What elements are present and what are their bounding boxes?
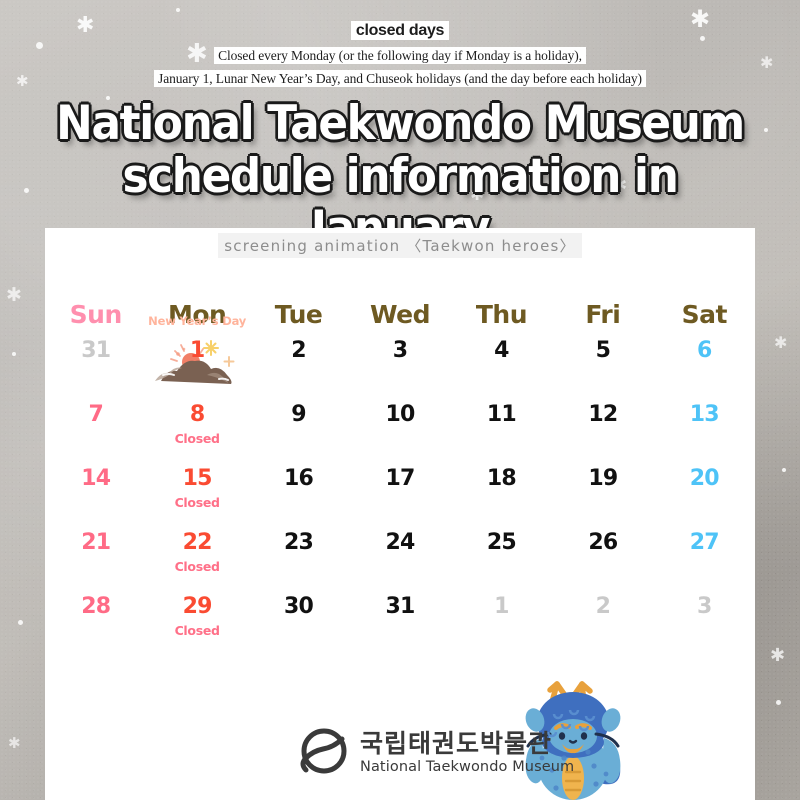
calendar-day-number: 21: [81, 532, 110, 554]
calendar-day-number: 10: [385, 404, 414, 426]
calendar-day-cell[interactable]: 30: [248, 592, 349, 656]
closed-days-note-line-2: January 1, Lunar New Year’s Day, and Chu…: [0, 70, 800, 88]
calendar-week-row: 1415Closed1617181920: [45, 464, 755, 528]
calendar-day-number: 28: [81, 596, 110, 618]
page-title-line-1: National Taekwondo Museum: [28, 98, 772, 151]
calendar-day-number: 12: [588, 404, 617, 426]
calendar-day-number: 31: [81, 340, 110, 362]
calendar-day-cell[interactable]: 23: [248, 528, 349, 592]
calendar-day-number: 4: [494, 340, 509, 362]
calendar-day-number: 8: [190, 404, 205, 426]
calendar-day-cell[interactable]: 4: [451, 336, 552, 400]
calendar-week-row: 2122Closed2324252627: [45, 528, 755, 592]
calendar-day-number: 2: [596, 596, 611, 618]
calendar-day-cell[interactable]: 26: [552, 528, 653, 592]
museum-logo: 국립태권도박물관 National Taekwondo Museum: [296, 726, 574, 780]
calendar-day-cell[interactable]: 11: [451, 400, 552, 464]
bg-dot: [176, 8, 180, 12]
closed-label: Closed: [175, 495, 220, 510]
calendar-grid: SunMonTueWedThuFriSat 31New Year’s Day1C…: [45, 292, 755, 656]
calendar-day-cell[interactable]: 22Closed: [146, 528, 247, 592]
calendar-day-cell[interactable]: 17: [349, 464, 450, 528]
calendar-day-number: 13: [690, 404, 719, 426]
calendar-day-number: 2: [291, 340, 306, 362]
closed-days-note-line-2-text: January 1, Lunar New Year’s Day, and Chu…: [154, 70, 646, 87]
calendar-day-number: 20: [690, 468, 719, 490]
sparkle-icon: ✱: [770, 646, 785, 664]
calendar-day-cell[interactable]: 10: [349, 400, 450, 464]
calendar-day-number: 14: [81, 468, 110, 490]
new-year-label: New Year’s Day: [148, 314, 246, 328]
screening-note-label: screening animation 〈Taekwon heroes〉: [218, 233, 582, 258]
calendar-day-number: 23: [284, 532, 313, 554]
screening-note: screening animation 〈Taekwon heroes〉: [0, 233, 800, 258]
calendar-day-cell[interactable]: 8Closed: [146, 400, 247, 464]
bg-dot: [18, 620, 23, 625]
calendar-day-cell[interactable]: 27: [654, 528, 755, 592]
bg-dot: [776, 700, 781, 705]
calendar-day-cell[interactable]: 28: [45, 592, 146, 656]
calendar-week-row: 2829Closed3031123: [45, 592, 755, 656]
calendar-day-cell[interactable]: 18: [451, 464, 552, 528]
bg-dot: [782, 468, 786, 472]
closed-days-badge-label: closed days: [351, 21, 449, 40]
calendar-day-number: 1: [494, 596, 509, 618]
calendar-day-cell[interactable]: 15Closed: [146, 464, 247, 528]
museum-name-korean: 국립태권도박물관: [360, 731, 574, 756]
calendar-day-cell[interactable]: 6: [654, 336, 755, 400]
calendar-day-cell[interactable]: 20: [654, 464, 755, 528]
sparkle-icon: ✱: [774, 336, 787, 352]
calendar-day-cell[interactable]: 5: [552, 336, 653, 400]
closed-label: Closed: [175, 559, 220, 574]
calendar-day-cell[interactable]: 31: [349, 592, 450, 656]
closed-label: Closed: [175, 367, 220, 382]
calendar-day-number: 27: [690, 532, 719, 554]
museum-name-english: National Taekwondo Museum: [360, 760, 574, 775]
calendar-day-number: 15: [183, 468, 212, 490]
calendar-day-cell[interactable]: 21: [45, 528, 146, 592]
calendar-day-number: 25: [487, 532, 516, 554]
calendar-day-cell[interactable]: 3: [349, 336, 450, 400]
weekday-header-thu: Thu: [451, 292, 552, 336]
weekday-header-wed: Wed: [349, 292, 450, 336]
calendar-day-cell[interactable]: New Year’s Day1Closed: [146, 336, 247, 400]
calendar-day-cell[interactable]: 12: [552, 400, 653, 464]
calendar-day-cell[interactable]: 19: [552, 464, 653, 528]
closed-label: Closed: [175, 623, 220, 638]
calendar-day-cell[interactable]: 13: [654, 400, 755, 464]
calendar-day-cell[interactable]: 2: [552, 592, 653, 656]
swirl-circle-logo-icon: [296, 726, 350, 780]
closed-days-note-line-1: Closed every Monday (or the following da…: [0, 47, 800, 65]
calendar-day-number: 24: [385, 532, 414, 554]
calendar-day-cell[interactable]: 31: [45, 336, 146, 400]
page-title-line-2-prefix: schedule information in: [122, 149, 677, 204]
calendar-day-cell[interactable]: 1: [451, 592, 552, 656]
calendar-day-cell[interactable]: 24: [349, 528, 450, 592]
calendar-day-number: 7: [88, 404, 103, 426]
calendar-day-cell[interactable]: 29Closed: [146, 592, 247, 656]
calendar-day-number: 30: [284, 596, 313, 618]
weekday-header-sun: Sun: [45, 292, 146, 336]
calendar-day-number: 6: [697, 340, 712, 362]
closed-days-badge: closed days: [0, 22, 800, 40]
calendar-day-number: 26: [588, 532, 617, 554]
calendar-day-cell[interactable]: 25: [451, 528, 552, 592]
weekday-header-fri: Fri: [552, 292, 653, 336]
calendar-day-cell[interactable]: 9: [248, 400, 349, 464]
calendar-day-number: 9: [291, 404, 306, 426]
calendar-day-number: 11: [487, 404, 516, 426]
calendar-day-cell[interactable]: 3: [654, 592, 755, 656]
calendar-day-number: 22: [183, 532, 212, 554]
calendar-day-number: 16: [284, 468, 313, 490]
calendar-week-row: 78Closed910111213: [45, 400, 755, 464]
closed-label: Closed: [175, 431, 220, 446]
calendar-day-cell[interactable]: 14: [45, 464, 146, 528]
calendar-week-row: 31New Year’s Day1Closed23456: [45, 336, 755, 400]
calendar-day-number: 3: [393, 340, 408, 362]
calendar-day-cell[interactable]: 2: [248, 336, 349, 400]
weekday-header-sat: Sat: [654, 292, 755, 336]
bg-dot: [12, 352, 16, 356]
calendar-day-number: 19: [588, 468, 617, 490]
calendar-day-number: 5: [596, 340, 611, 362]
calendar-day-number: 1: [190, 340, 205, 362]
museum-logo-text: 국립태권도박물관 National Taekwondo Museum: [360, 731, 574, 775]
calendar-day-number: 18: [487, 468, 516, 490]
sparkle-icon: ✱: [6, 286, 22, 305]
sparkle-icon: ✱: [8, 736, 21, 751]
weekday-header-tue: Tue: [248, 292, 349, 336]
calendar-day-number: 29: [183, 596, 212, 618]
calendar-day-cell[interactable]: 16: [248, 464, 349, 528]
calendar-day-number: 17: [385, 468, 414, 490]
closed-days-note-line-1-text: Closed every Monday (or the following da…: [214, 47, 586, 64]
calendar-day-number: 31: [385, 596, 414, 618]
calendar-weeks: 31New Year’s Day1Closed2345678Closed9101…: [45, 336, 755, 656]
calendar-day-number: 3: [697, 596, 712, 618]
calendar-day-cell[interactable]: 7: [45, 400, 146, 464]
